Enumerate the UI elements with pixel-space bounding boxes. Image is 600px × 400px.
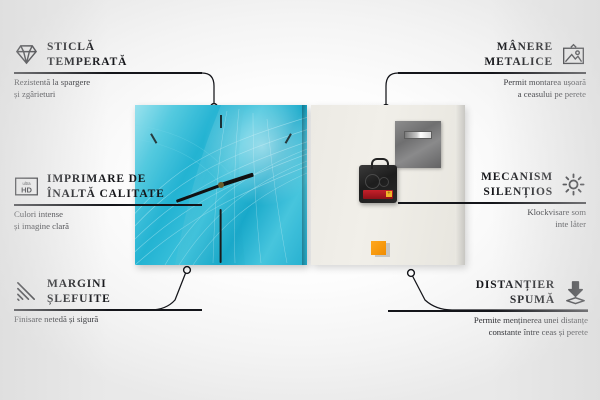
divider xyxy=(14,309,202,310)
callout-title-2: METALICE xyxy=(484,55,553,70)
callout-desc-1: Permite menținerea unei distanțe xyxy=(376,315,588,326)
callout-title-2: SILENȚIOS xyxy=(481,185,553,200)
callout-desc-2: constante între ceas și perete xyxy=(376,327,588,338)
callout-title: STICLĂ xyxy=(47,40,127,55)
callout-title-2: ȘLEFUITE xyxy=(47,292,111,307)
callout-title-2: TEMPERATĂ xyxy=(47,55,127,70)
callout-print-quality: ultra HD IMPRIMARE DE ÎNALTĂ CALITATE Cu… xyxy=(14,172,219,232)
callout-desc-1: Rezistentă la spargere xyxy=(14,77,219,88)
callout-foam-spacer: DISTANȚIER SPUMĂ Permite menținerea unei… xyxy=(376,278,588,338)
callout-desc-1: Permit montarea ușoară xyxy=(381,77,586,88)
callout-desc-2: a ceasului pe perete xyxy=(381,89,586,100)
divider xyxy=(14,72,202,73)
callout-silent-mechanism: MECANISM SILENȚIOS Klockvisare som inte … xyxy=(381,170,586,230)
divider xyxy=(398,72,586,73)
callout-desc-1: Finisare netedă și sigură xyxy=(14,314,219,325)
diamond-icon xyxy=(14,42,39,67)
mechanism-dial xyxy=(365,174,380,189)
divider xyxy=(14,204,202,205)
picture-hanger-icon xyxy=(561,42,586,67)
callout-desc-2: și zgârieturi xyxy=(14,89,219,100)
callout-desc-2: și imagine clară xyxy=(14,221,219,232)
metal-hanger-plate xyxy=(395,121,441,168)
infographic-canvas: + STICLĂ TEMPERATĂ Rezistentă la sparger… xyxy=(0,0,600,400)
foam-spacer-icon xyxy=(563,280,588,305)
divider xyxy=(398,202,586,203)
ultra-hd-icon: ultra HD xyxy=(14,174,39,199)
callout-tempered-glass: STICLĂ TEMPERATĂ Rezistentă la spargere … xyxy=(14,40,219,100)
callout-desc-1: Culori intense xyxy=(14,209,219,220)
callout-title: MÂNERE xyxy=(484,40,553,55)
callout-title: IMPRIMARE DE xyxy=(47,172,165,187)
mechanism-loop xyxy=(371,158,389,169)
gear-icon xyxy=(561,172,586,197)
hanger-slot xyxy=(404,131,432,139)
callout-title-2: ÎNALTĂ CALITATE xyxy=(47,187,165,202)
callout-desc-2: inte låter xyxy=(381,219,586,230)
glass-edge xyxy=(302,105,307,265)
callout-title: DISTANȚIER xyxy=(476,278,555,293)
callout-desc-1: Klockvisare som xyxy=(381,207,586,218)
divider xyxy=(388,310,588,311)
callout-title-2: SPUMĂ xyxy=(476,293,555,308)
polished-edges-icon xyxy=(14,279,39,304)
callout-title: MECANISM xyxy=(481,170,553,185)
callout-title: MARGINI xyxy=(47,277,111,292)
clock-second-hand xyxy=(220,209,222,263)
callout-metal-handles: MÂNERE METALICE Permit montarea ușoară a… xyxy=(381,40,586,100)
callout-polished-edges: MARGINI ȘLEFUITE Finisare netedă și sigu… xyxy=(14,277,219,326)
foam-spacer xyxy=(371,241,386,255)
svg-text:HD: HD xyxy=(21,186,32,195)
